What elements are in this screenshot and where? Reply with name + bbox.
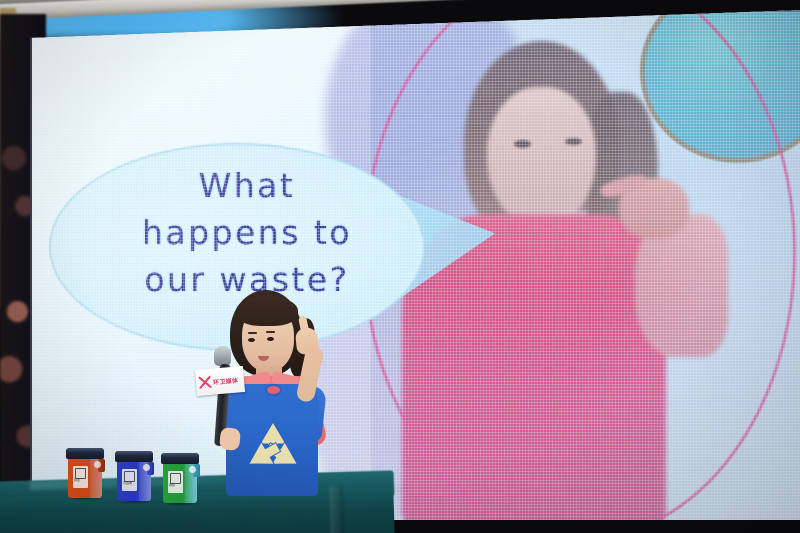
bin-label: 厨余 [168, 471, 183, 493]
bin-lid [66, 448, 104, 459]
recycling-symbol-icon [242, 420, 304, 480]
bin-label: 可回收 [122, 469, 137, 491]
bin-label: 有害 [73, 466, 88, 488]
presenter-eye-left [248, 338, 255, 342]
recyclable-waste-bin: 可回收 [115, 449, 153, 501]
bin-label-text: 可回收 [123, 481, 132, 485]
bin-badge [94, 461, 101, 468]
presenter-cape-clip [265, 384, 282, 396]
bin-label-text: 厨余 [169, 483, 175, 487]
presenter-fringe [236, 296, 298, 326]
bin-lid-lip [116, 451, 152, 455]
presenter-brow-left [248, 332, 257, 334]
led-screen: What happens to our waste? [30, 10, 800, 520]
bin-lid [115, 451, 153, 462]
speech-bubble-line-2: happens to [77, 210, 418, 257]
presenter-brow-right [266, 331, 275, 333]
bin-badge [189, 466, 196, 473]
bin-lid-lip [67, 448, 103, 452]
microphone-flag-text: 环卫媒体 [213, 375, 239, 386]
media-logo-icon [199, 376, 212, 389]
presenter-hand-left [219, 427, 241, 451]
hazardous-waste-bin: 有害 [66, 446, 104, 498]
bin-lid [161, 453, 199, 464]
presenter-eye-right [267, 337, 274, 341]
speech-bubble-text: What happens to our waste? [77, 163, 418, 304]
bin-badge [143, 464, 150, 471]
other-waste-bin: 厨余 [161, 451, 199, 503]
microphone-flag: 环卫媒体 [195, 366, 245, 396]
bin-lid-lip [162, 453, 198, 457]
speech-bubble-line-1: What [77, 163, 418, 210]
bin-label-text: 有害 [74, 478, 80, 482]
stage-photo-scene: What happens to our waste? 有害 可回收 [0, 0, 800, 533]
presenter: 环卫媒体 [196, 288, 346, 503]
